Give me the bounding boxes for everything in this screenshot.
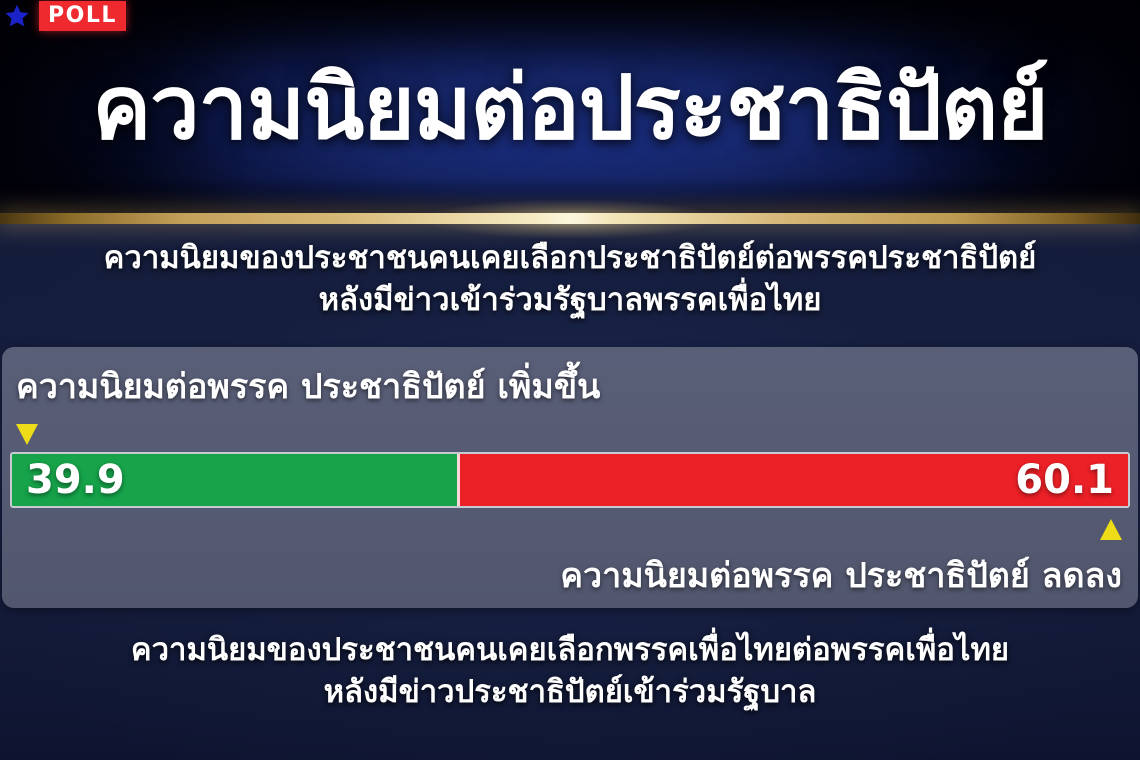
bar-segment-decrease: 60.1 [457,454,1128,506]
page-title: ความนิยมต่อประชาธิปัตย์ [0,62,1140,154]
bar-label-decrease: ความนิยมต่อพรรค ประชาธิปัตย์ ลดลง [560,548,1122,602]
subtitle-line-2: หลังมีข่าวเข้าร่วมรัฐบาลพรรคเพื่อไทย [0,280,1140,322]
star-icon [4,3,30,29]
header-banner: POLL ความนิยมต่อประชาธิปัตย์ [0,0,1140,222]
footer-block: ความนิยมของประชาชนคนเคยเลือกพรรคเพื่อไทย… [0,630,1140,714]
bar-value-decrease: 60.1 [1015,457,1114,503]
poll-badge-label: POLL [39,1,126,31]
chart-panel: ความนิยมต่อพรรค ประชาธิปัตย์ เพิ่มขึ้น 3… [2,347,1138,608]
bar-segment-divider [457,454,460,506]
triangle-down-icon [15,423,39,446]
stacked-bar: 39.9 60.1 [10,452,1130,508]
triangle-up-icon [1099,518,1123,541]
footer-line-1: ความนิยมของประชาชนคนเคยเลือกพรรคเพื่อไทย… [0,630,1140,672]
bar-label-increase: ความนิยมต่อพรรค ประชาธิปัตย์ เพิ่มขึ้น [16,359,600,413]
gold-divider [0,213,1140,224]
poll-badge-row: POLL [4,1,126,31]
bar-value-increase: 39.9 [26,457,125,503]
subtitle-line-1: ความนิยมของประชาชนคนเคยเลือกประชาธิปัตย์… [0,238,1140,280]
subtitle-block: ความนิยมของประชาชนคนเคยเลือกประชาธิปัตย์… [0,238,1140,322]
footer-line-2: หลังมีข่าวประชาธิปัตย์เข้าร่วมรัฐบาล [0,672,1140,714]
bar-segment-increase: 39.9 [12,454,457,506]
